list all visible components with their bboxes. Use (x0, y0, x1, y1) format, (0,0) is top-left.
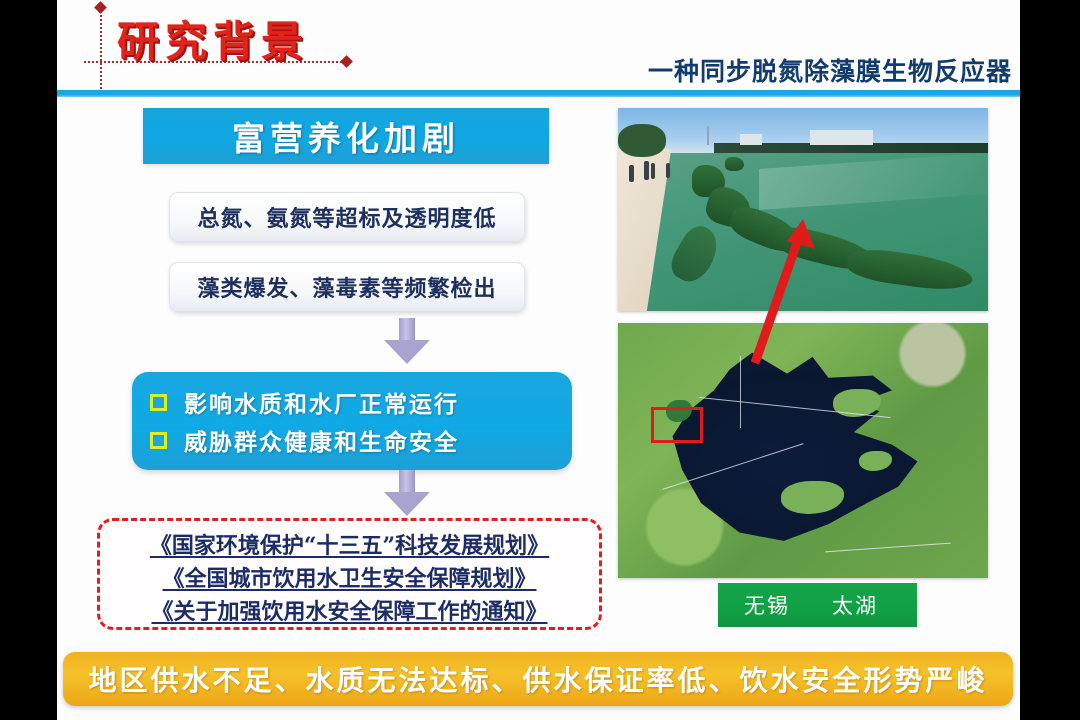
photo-building (810, 130, 873, 144)
diamond-marker-icon (94, 1, 107, 14)
red-arrow-icon (747, 215, 867, 365)
problem-box-2: 藻类爆发、藻毒素等频繁检出 (169, 262, 525, 312)
location-lake-label: 太湖 (832, 590, 878, 620)
section-title-banner: 富营养化加剧 (143, 108, 549, 164)
problem-box-1: 总氮、氨氮等超标及透明度低 (169, 192, 525, 242)
title-dotted-vertical-line (100, 8, 102, 96)
impact-item-label: 威胁群众健康和生命安全 (184, 423, 459, 457)
location-label: 无锡 太湖 (718, 583, 917, 627)
photo-building (707, 126, 709, 144)
arrow-down-icon (384, 318, 430, 364)
square-bullet-icon (150, 432, 167, 449)
impact-box: 影响水质和水厂正常运行 威胁群众健康和生命安全 (132, 372, 572, 470)
impact-item: 影响水质和水厂正常运行 (150, 383, 572, 421)
header-divider (57, 90, 1020, 97)
policy-documents-box: 《国家环境保护“十三五”科技发展规划》 《全国城市饮用水卫生安全保障规划》 《关… (97, 518, 602, 630)
photo-person (666, 163, 670, 178)
impact-item-label: 影响水质和水厂正常运行 (184, 385, 459, 419)
diamond-marker-icon (340, 55, 353, 68)
arrow-down-icon (384, 470, 430, 516)
summary-banner: 地区供水不足、水质无法达标、供水保证率低、饮水安全形势严峻 (63, 652, 1013, 706)
page-title: 研究背景 (117, 8, 309, 69)
photo-person (651, 163, 655, 179)
photo-algae-band (725, 157, 744, 171)
satellite-boundary-line (740, 356, 741, 427)
impact-item: 威胁群众健康和生命安全 (150, 421, 572, 459)
presentation-slide: 研究背景 一种同步脱氮除藻膜生物反应器 富营养化加剧 总氮、氨氮等超标及透明度低… (57, 0, 1020, 720)
screenshot-canvas: 研究背景 一种同步脱氮除藻膜生物反应器 富营养化加剧 总氮、氨氮等超标及透明度低… (0, 0, 1080, 720)
photo-person (629, 165, 634, 182)
photo-tree (618, 124, 666, 156)
photo-person (644, 161, 649, 180)
location-city-label: 无锡 (744, 590, 790, 620)
policy-document-item: 《国家环境保护“十三五”科技发展规划》 (100, 527, 599, 560)
photo-building (740, 134, 762, 144)
policy-document-item: 《关于加强饮用水安全保障工作的通知》 (100, 593, 599, 626)
square-bullet-icon (150, 394, 167, 411)
slide-subtitle: 一种同步脱氮除藻膜生物反应器 (648, 52, 1012, 88)
wuxi-highlight-box (651, 407, 703, 443)
policy-document-item: 《全国城市饮用水卫生安全保障规划》 (100, 560, 599, 593)
